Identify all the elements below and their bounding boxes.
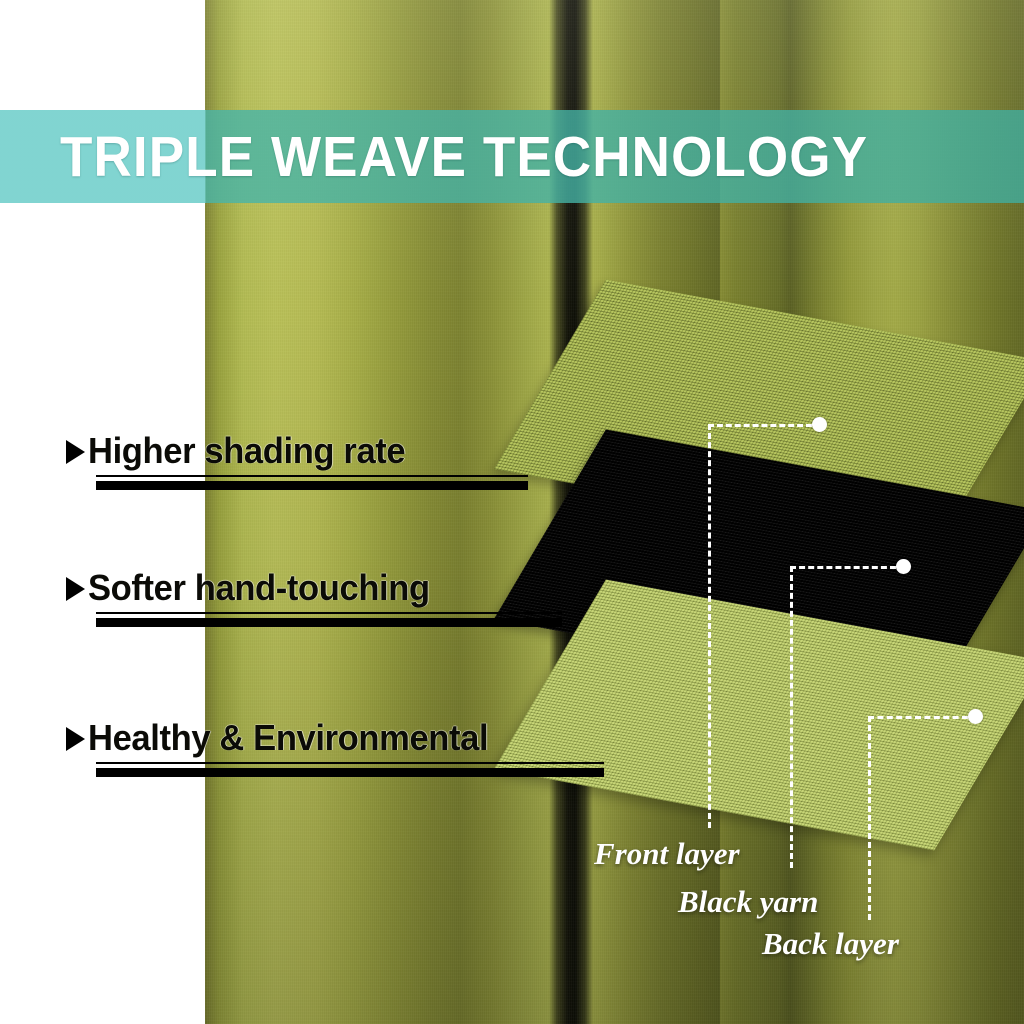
- feature-underline: [96, 475, 528, 490]
- front-layer-label: Front layer: [594, 836, 740, 872]
- back-layer-label: Back layer: [762, 926, 899, 962]
- leader-dot: [968, 709, 983, 724]
- leader-horizontal: [790, 566, 896, 569]
- leader-horizontal: [708, 424, 812, 427]
- feature-item-higher-shading-rate: Higher shading rate: [66, 418, 418, 508]
- leader-dot: [896, 559, 911, 574]
- feature-item-softer-hand-touching: Softer hand-touching: [66, 555, 444, 645]
- feature-item-healthy-environmental: Healthy & Environmental: [66, 705, 505, 795]
- underline-thick: [96, 768, 604, 777]
- underline-thick: [96, 481, 528, 490]
- underline-thick: [96, 618, 562, 627]
- leader-horizontal: [868, 716, 968, 719]
- feature-label: Healthy & Environmental: [88, 719, 488, 757]
- leader-dot: [812, 417, 827, 432]
- page-title: TRIPLE WEAVE TECHNOLOGY: [60, 110, 934, 203]
- leader-vertical: [708, 424, 711, 828]
- feature-underline: [96, 612, 562, 627]
- triangle-right-icon: [66, 577, 85, 601]
- feature-underline: [96, 762, 604, 777]
- triangle-right-icon: [66, 440, 85, 464]
- product-infographic: Front layer Black yarn Back layer TRIPLE…: [0, 0, 1024, 1024]
- feature-label: Higher shading rate: [88, 432, 405, 470]
- leader-vertical: [868, 716, 871, 920]
- feature-label: Softer hand-touching: [88, 569, 430, 607]
- triangle-right-icon: [66, 727, 85, 751]
- black-yarn-label: Black yarn: [678, 884, 818, 920]
- leader-vertical: [790, 566, 793, 868]
